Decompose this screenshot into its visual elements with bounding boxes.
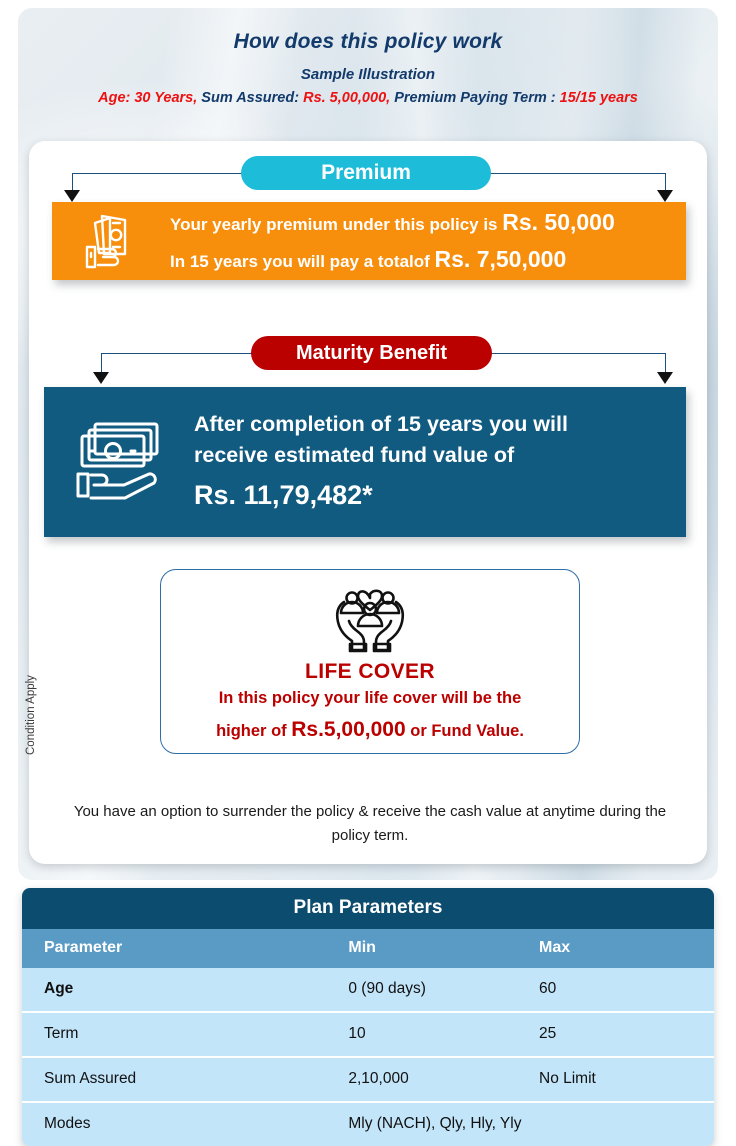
header-block: How does this policy work Sample Illustr… (18, 30, 718, 106)
cash-in-hand-icon (52, 211, 170, 271)
life-cover-line-1: In this policy your life cover will be t… (161, 684, 579, 712)
premium-line-1-text: Your yearly premium under this policy is (170, 215, 502, 234)
premium-total-amount: Rs. 7,50,000 (435, 246, 567, 272)
column-header-max: Max (517, 929, 714, 968)
maturity-line-1: After completion of 15 years you will (194, 409, 568, 440)
premium-yearly-amount: Rs. 50,000 (502, 209, 615, 235)
cell-max: 60 (517, 968, 714, 1012)
maturity-banner: After completion of 15 years you will re… (44, 387, 686, 537)
family-in-hands-icon (161, 580, 579, 658)
money-stack-hand-icon (44, 419, 194, 505)
table-header-row: Parameter Min Max (22, 929, 714, 968)
param-ppt-value: 15/15 years (560, 90, 638, 106)
cell-min: 0 (90 days) (326, 968, 517, 1012)
infographic-page: How does this policy work Sample Illustr… (0, 0, 736, 1138)
maturity-text: After completion of 15 years you will re… (194, 409, 568, 514)
cell-max: 25 (517, 1012, 714, 1057)
maturity-line-2: receive estimated fund value of (194, 440, 568, 471)
plan-parameters-table: Plan Parameters Parameter Min Max Age 0 … (22, 888, 714, 1146)
table-caption: Plan Parameters (22, 888, 714, 929)
illustration-params: Age: 30 Years, Sum Assured: Rs. 5,00,000… (18, 90, 718, 106)
param-age: Age: 30 Years, (98, 90, 197, 106)
premium-line-2: In 15 years you will pay a totalof Rs. 7… (170, 241, 615, 278)
cell-modes-merged: Mly (NACH), Qly, Hly, Yly (326, 1102, 714, 1146)
arrow-down-icon-right (657, 190, 673, 202)
surrender-note: You have an option to surrender the poli… (70, 800, 670, 848)
cell-max: No Limit (517, 1057, 714, 1102)
premium-pill: Premium (241, 156, 491, 190)
page-subtitle: Sample Illustration (18, 66, 718, 83)
maturity-amount: Rs. 11,79,482* (194, 476, 568, 515)
life-cover-amount: Rs.5,00,000 (291, 718, 405, 741)
life-cover-prefix: higher of (216, 722, 291, 740)
arrow-down-icon-right-2 (657, 372, 673, 384)
cell-parameter: Term (22, 1012, 326, 1057)
cell-parameter: Sum Assured (22, 1057, 326, 1102)
premium-text: Your yearly premium under this policy is… (170, 204, 615, 279)
cell-min: 2,10,000 (326, 1057, 517, 1102)
plan-parameters-table-wrapper: Plan Parameters Parameter Min Max Age 0 … (22, 888, 714, 1146)
table-row: Sum Assured 2,10,000 No Limit (22, 1057, 714, 1102)
premium-line-2-text: In 15 years you will pay a totalof (170, 252, 435, 271)
life-cover-line-2: higher of Rs.5,00,000 or Fund Value. (161, 712, 579, 748)
arrow-down-icon-left-2 (93, 372, 109, 384)
cell-min: 10 (326, 1012, 517, 1057)
premium-line-1: Your yearly premium under this policy is… (170, 204, 615, 241)
arrow-down-icon-left (64, 190, 80, 202)
page-title: How does this policy work (18, 30, 718, 54)
life-cover-title: LIFE COVER (161, 660, 579, 684)
cell-parameter: Modes (22, 1102, 326, 1146)
table-row: Modes Mly (NACH), Qly, Hly, Yly (22, 1102, 714, 1146)
param-ppt-label: Premium Paying Term : (390, 90, 559, 106)
column-header-parameter: Parameter (22, 929, 326, 968)
table-row: Term 10 25 (22, 1012, 714, 1057)
column-header-min: Min (326, 929, 517, 968)
table-body: Age 0 (90 days) 60 Term 10 25 Sum Assure… (22, 968, 714, 1146)
maturity-pill: Maturity Benefit (251, 336, 492, 370)
life-cover-suffix: or Fund Value. (406, 722, 524, 740)
table-row: Age 0 (90 days) 60 (22, 968, 714, 1012)
condition-apply-label: Condition Apply (25, 635, 37, 755)
param-sum-assured-value: Rs. 5,00,000, (303, 90, 390, 106)
cell-parameter: Age (22, 968, 326, 1012)
param-sum-assured-label: Sum Assured: (197, 90, 303, 106)
life-cover-box: LIFE COVER In this policy your life cove… (160, 569, 580, 754)
premium-banner: Your yearly premium under this policy is… (52, 202, 686, 280)
